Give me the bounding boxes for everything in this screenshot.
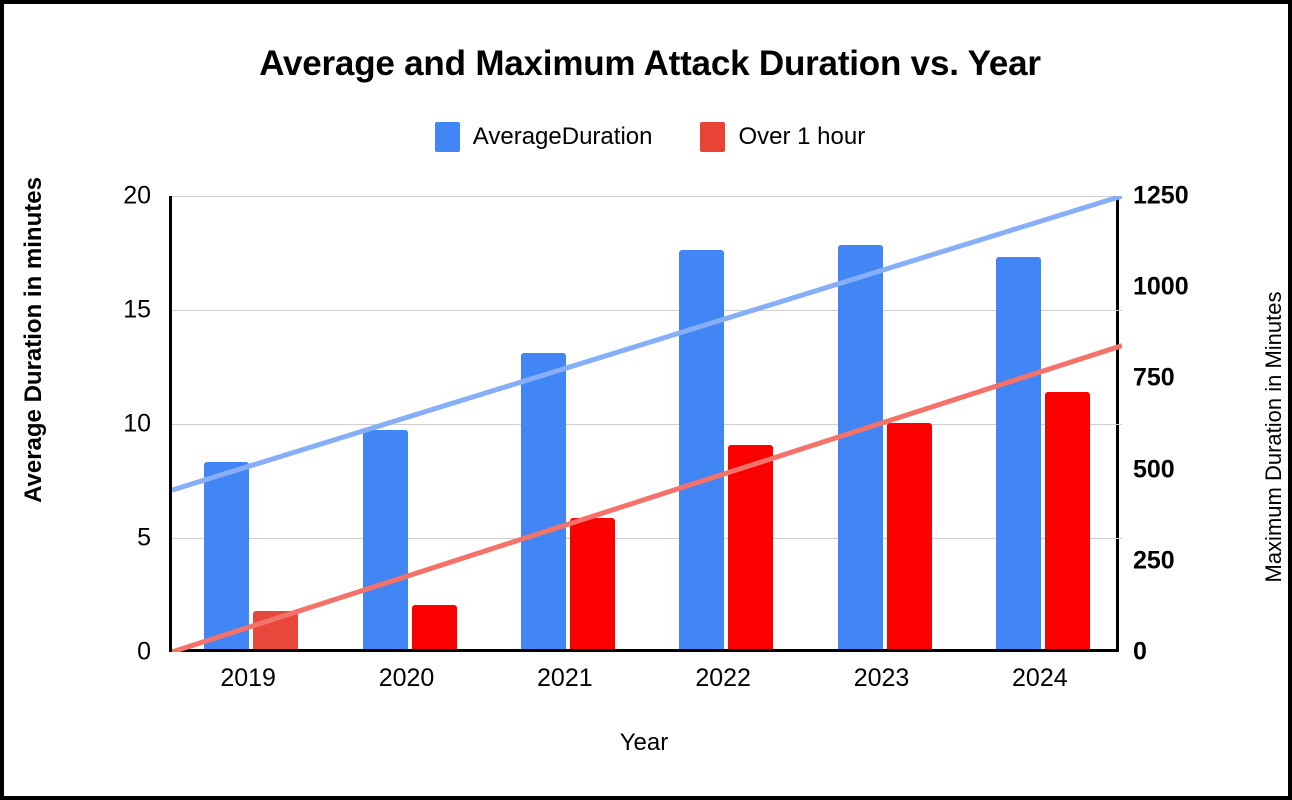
y-axis-left-tick: 20 bbox=[41, 182, 151, 211]
x-axis-title: Year bbox=[169, 729, 1119, 757]
bar-over-1-hour[interactable] bbox=[412, 605, 457, 649]
y-axis-left-tick: 15 bbox=[41, 296, 151, 325]
gridline bbox=[172, 196, 1122, 197]
x-axis-tick: 2021 bbox=[485, 664, 645, 693]
gridline bbox=[172, 424, 1122, 425]
legend-swatch-average-duration bbox=[435, 122, 460, 152]
y-axis-right-tick: 0 bbox=[1133, 638, 1253, 667]
x-axis-tick: 2020 bbox=[327, 664, 487, 693]
trendline bbox=[172, 346, 1122, 652]
chart-legend: AverageDuration Over 1 hour bbox=[4, 122, 1292, 152]
y-axis-right-tick: 500 bbox=[1133, 455, 1253, 484]
legend-item-average-duration[interactable]: AverageDuration bbox=[435, 122, 653, 152]
gridline bbox=[172, 310, 1122, 311]
y-axis-right-title: Maximum Duration in Minutes bbox=[1261, 177, 1287, 697]
x-axis-tick: 2019 bbox=[168, 664, 328, 693]
bar-over-1-hour[interactable] bbox=[887, 423, 932, 649]
bar-average-duration[interactable] bbox=[521, 353, 566, 649]
bar-average-duration[interactable] bbox=[204, 462, 249, 649]
x-axis-tick: 2024 bbox=[960, 664, 1120, 693]
bar-average-duration[interactable] bbox=[363, 430, 408, 649]
legend-label-average-duration: AverageDuration bbox=[473, 123, 653, 151]
y-axis-left-tick: 5 bbox=[41, 524, 151, 553]
x-axis-tick: 2022 bbox=[643, 664, 803, 693]
y-axis-right-tick: 1000 bbox=[1133, 273, 1253, 302]
bar-over-1-hour[interactable] bbox=[728, 445, 773, 649]
plot-area bbox=[169, 196, 1119, 652]
gridline bbox=[172, 538, 1122, 539]
bar-average-duration[interactable] bbox=[996, 257, 1041, 649]
bar-average-duration[interactable] bbox=[679, 250, 724, 649]
legend-label-over-1-hour: Over 1 hour bbox=[738, 123, 865, 151]
y-axis-right-tick: 1250 bbox=[1133, 182, 1253, 211]
legend-swatch-over-1-hour bbox=[700, 122, 725, 152]
x-axis-tick: 2023 bbox=[802, 664, 962, 693]
bar-over-1-hour[interactable] bbox=[253, 611, 298, 649]
y-axis-right-tick: 250 bbox=[1133, 546, 1253, 575]
bar-over-1-hour[interactable] bbox=[1045, 392, 1090, 649]
bar-over-1-hour[interactable] bbox=[570, 518, 615, 649]
y-axis-left-title: Average Duration in minutes bbox=[20, 80, 48, 600]
chart-frame: Average and Maximum Attack Duration vs. … bbox=[0, 0, 1292, 800]
y-axis-left-tick: 0 bbox=[41, 638, 151, 667]
trendline bbox=[172, 196, 1122, 490]
chart-title: Average and Maximum Attack Duration vs. … bbox=[4, 44, 1292, 84]
bar-average-duration[interactable] bbox=[838, 245, 883, 649]
y-axis-right-tick: 750 bbox=[1133, 364, 1253, 393]
legend-item-over-1-hour[interactable]: Over 1 hour bbox=[700, 122, 865, 152]
y-axis-left-tick: 10 bbox=[41, 410, 151, 439]
